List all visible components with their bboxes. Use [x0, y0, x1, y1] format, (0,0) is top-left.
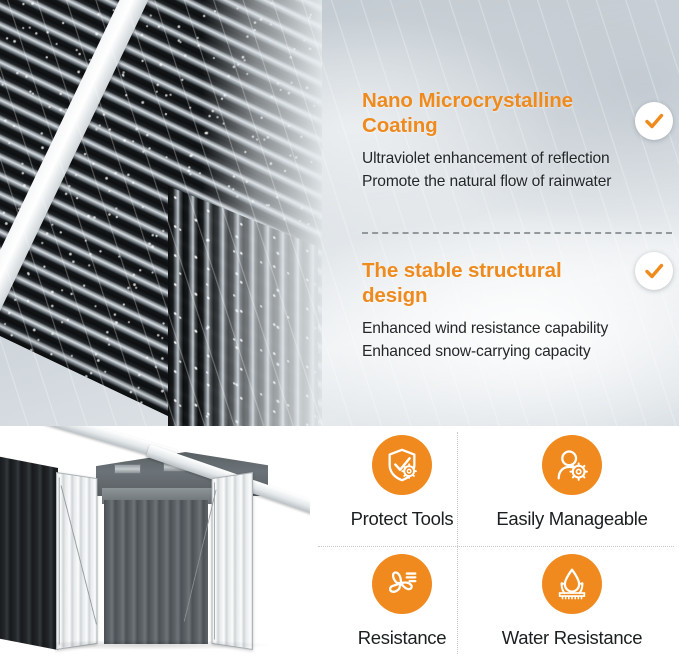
benefit-label: Easily Manageable: [496, 508, 647, 530]
feature-line: Enhanced snow-carrying capacity: [362, 341, 679, 364]
benefit-item-protect-tools: Protect Tools: [322, 435, 482, 530]
feature-description: Ultraviolet enhancement of reflection Pr…: [362, 148, 679, 193]
feature-text-column: Nano Microcrystalline Coating Ultraviole…: [330, 0, 679, 426]
benefits-icon-grid: Protect Tools: [312, 426, 679, 657]
benefit-item-resistance: Resistance: [322, 554, 482, 649]
shed-door-left: [56, 472, 97, 650]
door-edge-brace: [214, 482, 215, 639]
feature-title: The stable structural design: [362, 258, 630, 308]
top-feature-panel: Nano Microcrystalline Coating Ultraviole…: [0, 0, 679, 426]
photo-edge-fade: [202, 0, 322, 426]
benefit-label: Water Resistance: [502, 627, 643, 649]
benefit-label: Resistance: [358, 627, 447, 649]
benefit-label: Protect Tools: [351, 508, 454, 530]
door-diagonal-brace: [61, 485, 98, 624]
shed-vent: [114, 464, 141, 474]
person-gear-icon: [542, 435, 602, 495]
shed-door-right: [212, 472, 253, 650]
shed-interior-wall: [104, 500, 208, 644]
check-icon: [642, 109, 666, 133]
benefit-item-easily-manageable: Easily Manageable: [492, 435, 652, 530]
water-droplet-repel-icon: [542, 554, 602, 614]
check-icon: [642, 259, 666, 283]
check-badge: [635, 252, 673, 290]
door-edge-brace: [59, 477, 60, 644]
fan-wind-icon: [372, 554, 432, 614]
feature-block: The stable structural design Enhanced wi…: [362, 258, 679, 363]
shield-check-gear-icon: [372, 435, 432, 495]
feature-description: Enhanced wind resistance capability Enha…: [362, 318, 679, 363]
roof-closeup-photo: [0, 0, 322, 426]
benefit-item-water-resistance: Water Resistance: [492, 554, 652, 649]
feature-line: Promote the natural flow of rainwater: [362, 171, 679, 194]
feature-title: Nano Microcrystalline Coating: [362, 88, 630, 138]
feature-line: Ultraviolet enhancement of reflection: [362, 148, 679, 171]
shed-left-wall: [0, 454, 58, 650]
shed-product-photo: [0, 426, 310, 657]
feature-block: Nano Microcrystalline Coating Ultraviole…: [362, 88, 679, 193]
grid-horizontal-divider: [318, 546, 674, 547]
bottom-benefits-panel: Protect Tools: [0, 426, 679, 657]
shed-ground-shadow: [20, 640, 270, 650]
check-badge: [635, 102, 673, 140]
section-divider: [362, 232, 672, 234]
feature-line: Enhanced wind resistance capability: [362, 318, 679, 341]
